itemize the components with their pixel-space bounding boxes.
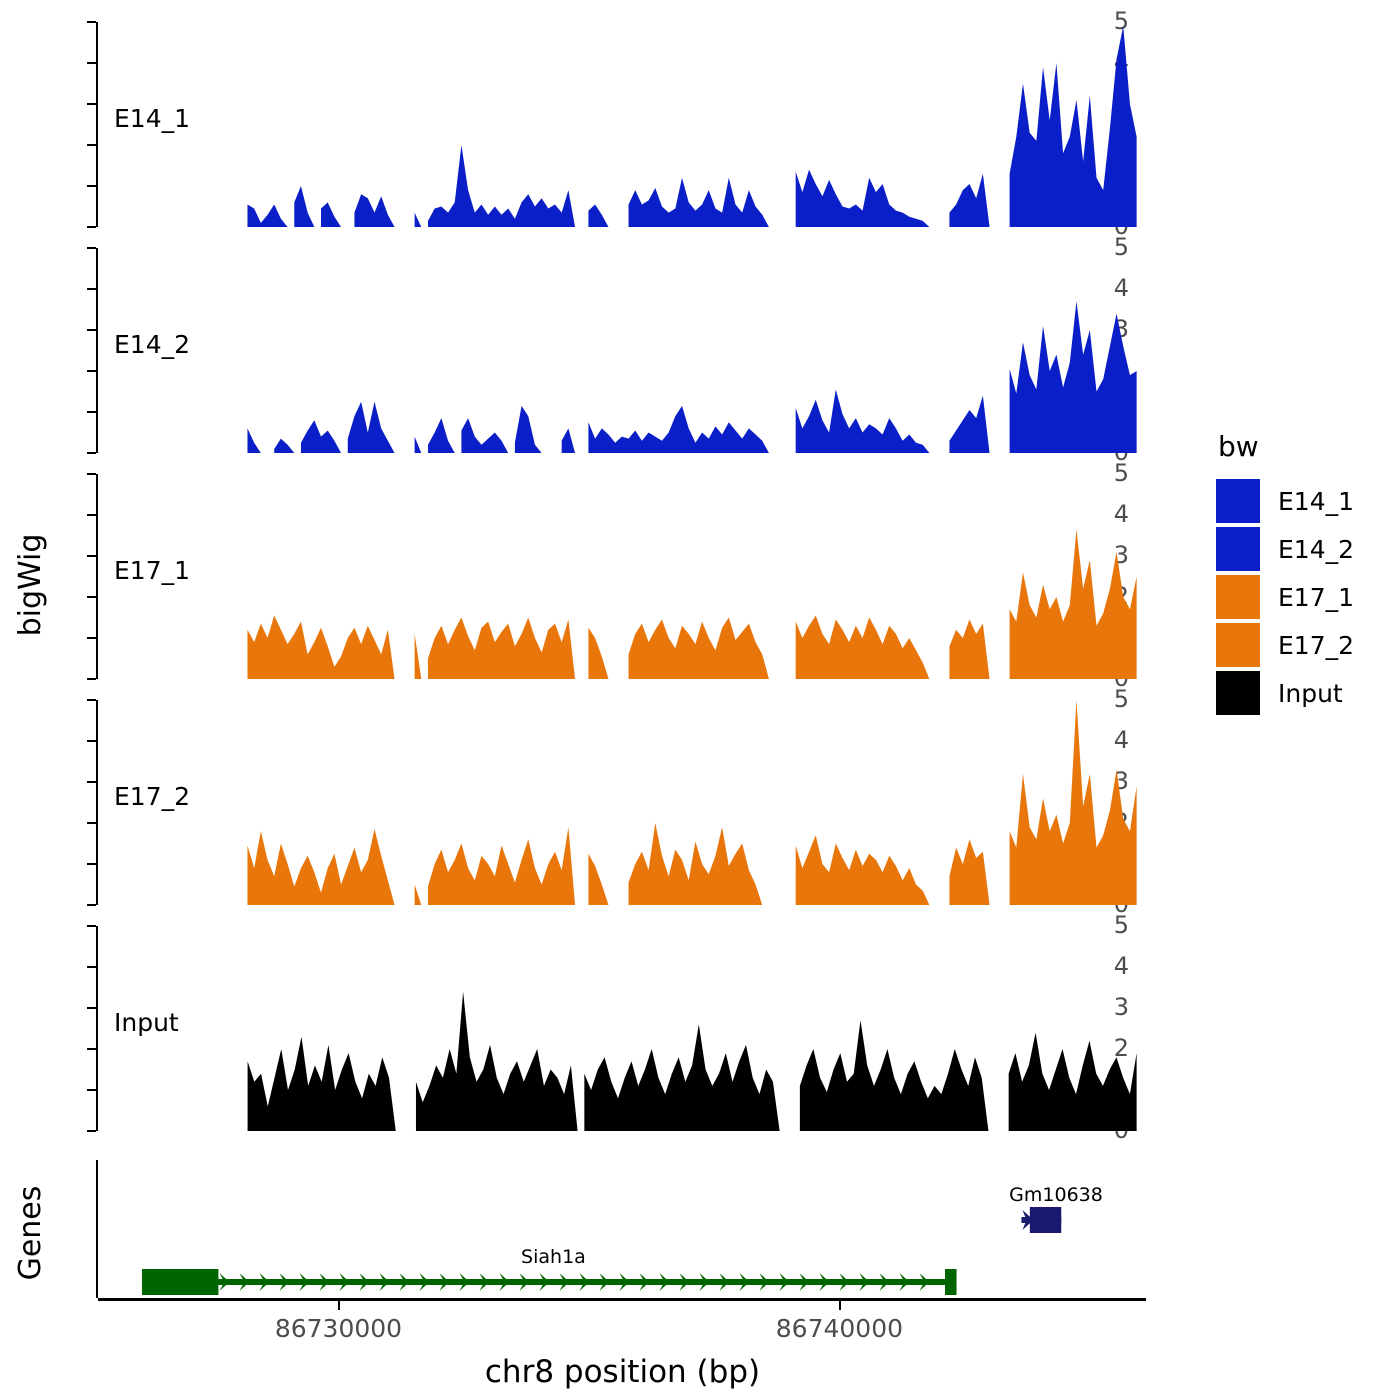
y-tick-mark	[87, 1007, 96, 1009]
track-panel-e17_1: 012345E17_1	[96, 474, 1145, 679]
track-panel-e17_2: 012345E17_2	[96, 700, 1145, 905]
y-tick-mark	[87, 781, 96, 783]
legend-label: E17_1	[1278, 583, 1354, 612]
y-tick-mark	[87, 699, 96, 701]
track-plot-area	[98, 248, 1145, 453]
y-tick-mark	[87, 822, 96, 824]
y-tick-mark	[87, 1089, 96, 1091]
x-tick-label: 86740000	[729, 1314, 949, 1343]
x-axis-line	[98, 1298, 1146, 1301]
y-tick-mark	[87, 226, 96, 228]
track-panel-input: 012345Input	[96, 926, 1145, 1131]
legend-swatch-icon	[1216, 479, 1260, 523]
y-tick-mark	[87, 596, 96, 598]
y-tick-mark	[87, 740, 96, 742]
legend-item-e14_2[interactable]: E14_2	[1216, 525, 1396, 573]
y-tick-mark	[87, 925, 96, 927]
legend-rows: E14_1E14_2E17_1E17_2Input	[1216, 477, 1396, 717]
legend-item-e17_1[interactable]: E17_1	[1216, 573, 1396, 621]
track-panel-e14_1: 012345E14_1	[96, 22, 1145, 227]
x-axis-title: chr8 position (bp)	[0, 1354, 1245, 1390]
y-tick-mark	[87, 555, 96, 557]
legend-title: bw	[1218, 430, 1396, 463]
y-tick-mark	[87, 370, 96, 372]
legend-swatch-icon	[1216, 623, 1260, 667]
y-tick-mark	[87, 103, 96, 105]
y-tick-mark	[87, 21, 96, 23]
y-tick-mark	[87, 863, 96, 865]
y-tick-mark	[87, 329, 96, 331]
legend-swatch-icon	[1216, 671, 1260, 715]
y-tick-mark	[87, 1130, 96, 1132]
bigwig-axis-title: bigWig	[13, 495, 43, 675]
y-tick-mark	[87, 966, 96, 968]
gene-glyph-gm10638[interactable]	[98, 1160, 1145, 1298]
genes-axis-title: Genes	[13, 1163, 43, 1303]
legend-label: E14_2	[1278, 535, 1354, 564]
y-tick-mark	[87, 62, 96, 64]
genes-plot-area: Siah1aGm10638	[98, 1160, 1145, 1298]
track-plot-area	[98, 22, 1145, 227]
track-plot-area	[98, 474, 1145, 679]
y-tick-mark	[87, 678, 96, 680]
y-tick-mark	[87, 1048, 96, 1050]
legend-item-e14_1[interactable]: E14_1	[1216, 477, 1396, 525]
legend-label: Input	[1278, 679, 1343, 708]
track-plot-area	[98, 700, 1145, 905]
y-tick-mark	[87, 452, 96, 454]
x-tick-label: 86730000	[228, 1314, 448, 1343]
legend: bw E14_1E14_2E17_1E17_2Input	[1216, 430, 1396, 717]
legend-label: E14_1	[1278, 487, 1354, 516]
y-tick-mark	[87, 411, 96, 413]
legend-item-input[interactable]: Input	[1216, 669, 1396, 717]
y-tick-mark	[87, 247, 96, 249]
genes-panel: Siah1aGm10638	[96, 1160, 1145, 1298]
gene-label-gm10638: Gm10638	[966, 1184, 1146, 1206]
y-tick-mark	[87, 185, 96, 187]
y-tick-mark	[87, 637, 96, 639]
x-tick-mark	[839, 1301, 841, 1310]
x-tick-mark	[338, 1301, 340, 1310]
track-panel-e14_2: 012345E14_2	[96, 248, 1145, 453]
track-plot-area	[98, 926, 1145, 1131]
y-tick-mark	[87, 144, 96, 146]
y-tick-mark	[87, 288, 96, 290]
legend-swatch-icon	[1216, 575, 1260, 619]
y-tick-mark	[87, 514, 96, 516]
legend-item-e17_2[interactable]: E17_2	[1216, 621, 1396, 669]
legend-label: E17_2	[1278, 631, 1354, 660]
y-tick-mark	[87, 904, 96, 906]
legend-swatch-icon	[1216, 527, 1260, 571]
genome-browser-figure: bigWig Genes 012345E14_1012345E14_201234…	[0, 0, 1400, 1400]
y-tick-mark	[87, 473, 96, 475]
